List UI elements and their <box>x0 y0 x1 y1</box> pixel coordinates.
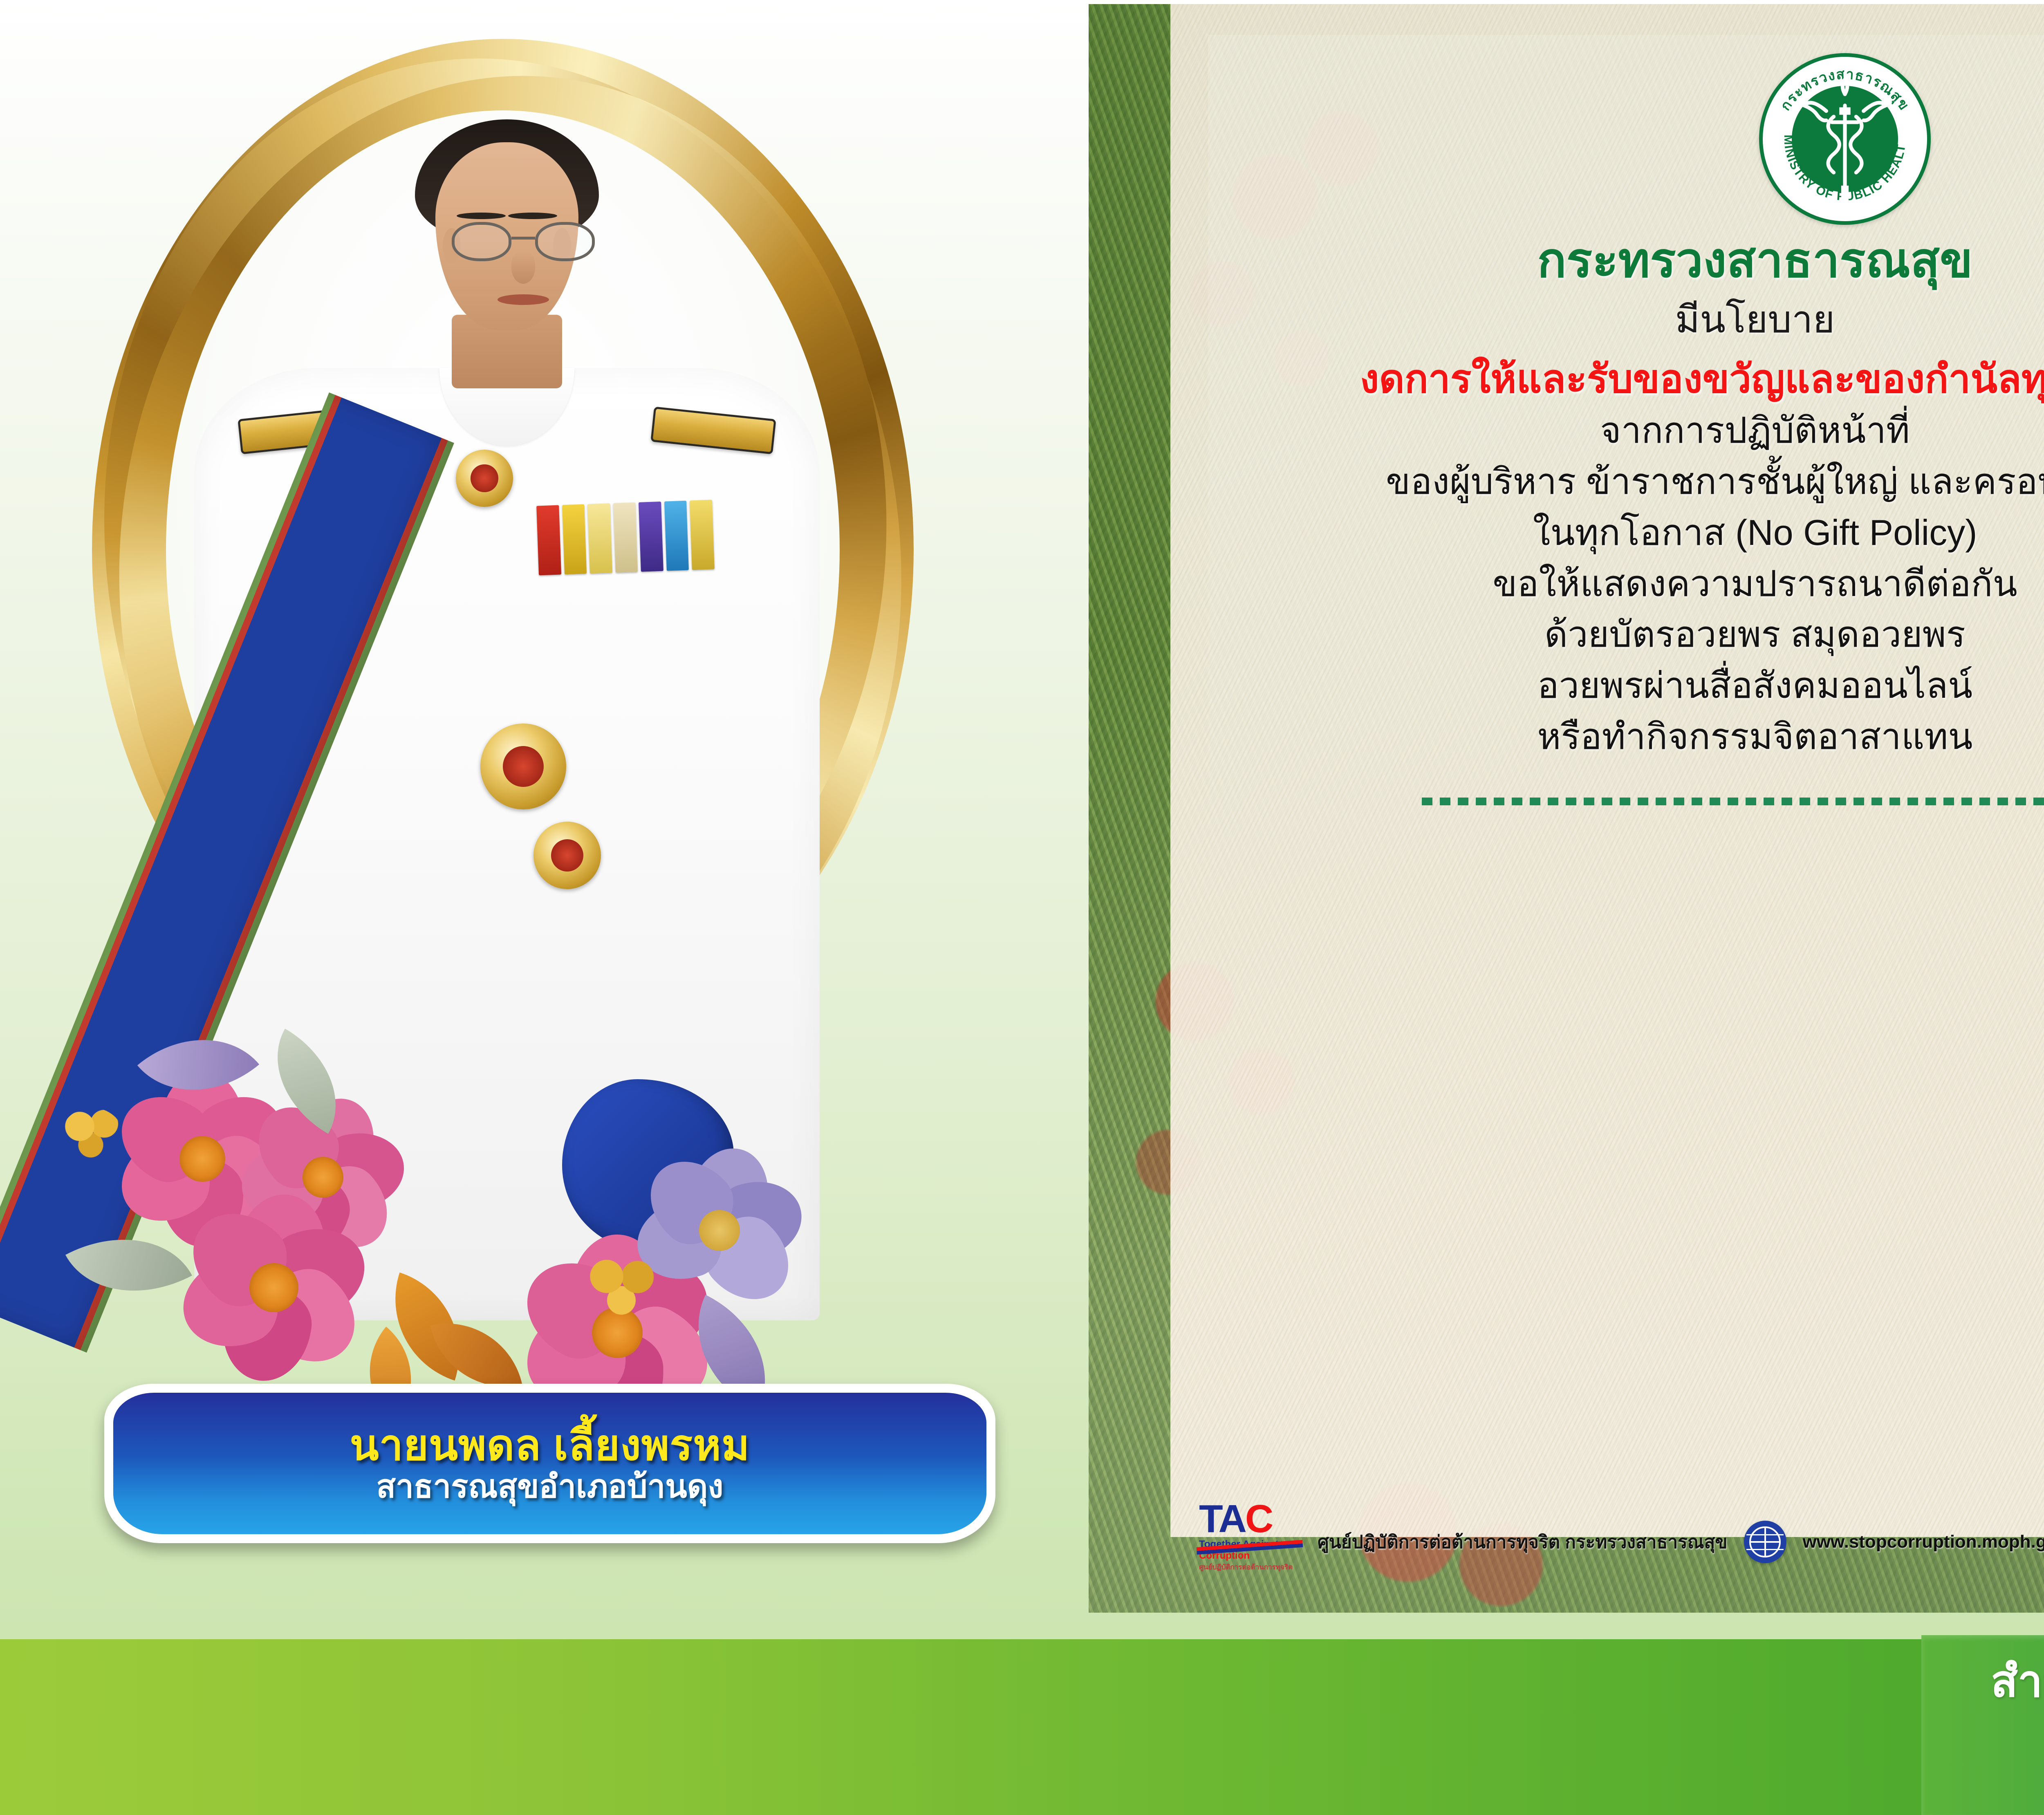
moph-emblem: กระทรวงสาธารณสุข MINISTRY OF PUBLIC HEAL… <box>1759 53 1931 225</box>
message-line-1: จากการปฏิบัติหน้าที่ <box>1195 405 2044 456</box>
tac-letter-red: C <box>1245 1497 1272 1541</box>
message-line-3: ในทุกโอกาส (No Gift Policy) <box>1195 507 2044 558</box>
dashed-divider <box>1422 798 2044 805</box>
floral-decoration <box>45 973 1026 1414</box>
bottom-bar-lime <box>0 1639 1921 1815</box>
lens-left <box>452 222 511 261</box>
flower-pink-3 <box>180 1194 368 1382</box>
stopcorruption-website: www.stopcorruption.moph.go.th <box>1803 1532 2044 1552</box>
berry-cluster-gold <box>585 1255 658 1316</box>
anti-corruption-center-name: ศูนย์ปฏิบัติการต่อต้านการทุจริต กระทรวงส… <box>1318 1528 1728 1556</box>
tac-letters-blue: TA <box>1199 1497 1245 1541</box>
message-line-7: หรือทำกิจกรรมจิตอาสาแทน <box>1195 711 2044 762</box>
official-name: นายนพดล เลี้ยงพรหม <box>350 1423 750 1468</box>
globe-icon-lines <box>1749 1526 1781 1558</box>
card-footer-strip: TAC Together Against Corruption ศูนย์ปฏิ… <box>1089 1495 2044 1589</box>
official-role: สาธารณสุขอำเภอบ้านดุง <box>377 1470 724 1504</box>
medal-star-low <box>533 822 601 889</box>
tac-logo-letters: TAC <box>1199 1501 1301 1537</box>
lens-right <box>535 222 595 261</box>
globe-icon <box>1744 1521 1786 1563</box>
official-name-badge: นายนพดล เลี้ยงพรหม สาธารณสุขอำเภอบ้านดุง <box>104 1384 995 1543</box>
epaulette-right <box>650 407 776 455</box>
policy-message: กระทรวงสาธารณสุข มีนโยบาย งดการให้และรับ… <box>1195 233 2044 805</box>
eyebrow-left <box>457 213 506 219</box>
name-badge-inner: นายนพดล เลี้ยงพรหม สาธารณสุขอำเภอบ้านดุง <box>113 1393 986 1534</box>
eyebrow-right <box>508 213 557 219</box>
message-highlight: งดการให้และรับของขวัญและของกำนัลทุกชนิด <box>1195 354 2044 405</box>
tac-logo: TAC Together Against Corruption ศูนย์ปฏิ… <box>1199 1501 1301 1583</box>
globe-icon-lat-1 <box>1746 1534 1784 1535</box>
bottom-bar-green: สำนักงานสาธารณสุขอำเภอบ้านดุง http://www… <box>1921 1635 2044 1815</box>
flower-purple-1 <box>638 1149 801 1312</box>
message-line-6: อวยพรผ่านสื่อสังคมออนไลน์ <box>1195 660 2044 711</box>
message-line-2: ของผู้บริหาร ข้าราชการชั้นผู้ใหญ่ และครอ… <box>1195 456 2044 507</box>
no-gift-policy-card: กระทรวงสาธารณสุข MINISTRY OF PUBLIC HEAL… <box>1089 4 2044 1613</box>
face <box>435 142 578 330</box>
message-line-4: ขอให้แสดงความปรารถนาดีต่อกัน <box>1195 558 2044 609</box>
medal-star-mid <box>480 724 566 809</box>
official-portrait-column: นายนพดล เลี้ยงพรหม สาธารณสุขอำเภอบ้านดุง <box>0 0 1071 1635</box>
organization-name: สำนักงานสาธารณสุขอำเภอบ้านดุง <box>1991 1646 2044 1716</box>
message-line-5: ด้วยบัตรอวยพร สมุดอวยพร <box>1195 609 2044 660</box>
message-title: กระทรวงสาธารณสุข <box>1195 233 2044 289</box>
berry-cluster-yellow <box>61 1108 123 1161</box>
tac-logo-tagline-thai: ศูนย์ปฏิบัติการต่อต้านการทุจริต <box>1199 1562 1301 1573</box>
nose <box>511 252 535 284</box>
message-subtitle: มีนโยบาย <box>1195 294 2044 345</box>
mouth <box>498 294 549 305</box>
caduceus-icon <box>1792 74 1898 204</box>
glasses-bridge <box>511 237 535 240</box>
head <box>419 123 595 335</box>
globe-icon-lat-2 <box>1746 1549 1784 1550</box>
medal-star-chest <box>456 450 513 507</box>
medal-ribbon-bar <box>536 500 715 576</box>
